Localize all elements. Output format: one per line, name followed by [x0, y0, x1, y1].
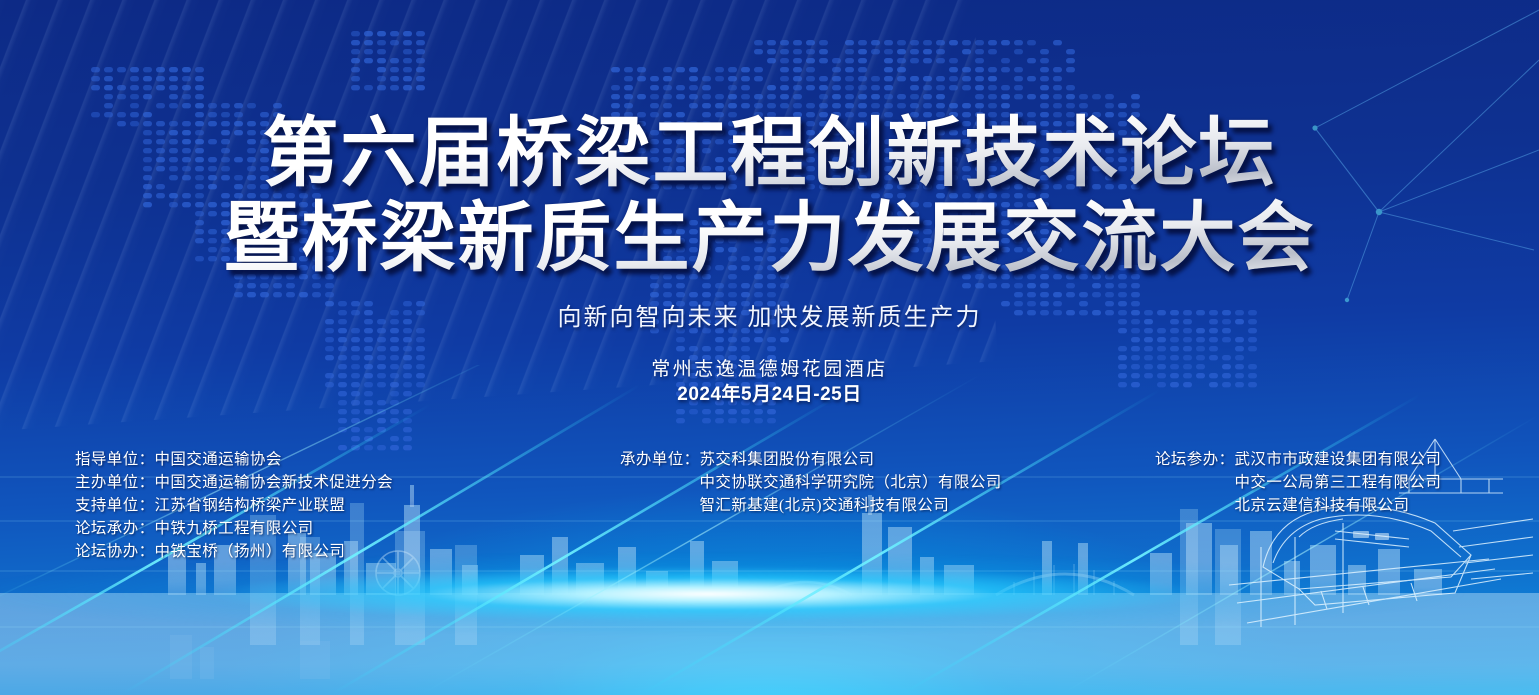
organization-value: 苏交科集团股份有限公司: [700, 448, 875, 471]
venue-text: 常州志逸温德姆花园酒店: [0, 354, 1539, 381]
organization-row: 支持单位：江苏省钢结构桥梁产业联盟: [75, 494, 393, 517]
organizations-right-column: 论坛参办：武汉市市政建设集团有限公司论坛参办：中交一公局第三工程有限公司论坛参办…: [1155, 448, 1441, 517]
organization-row: 论坛承办：中铁九桥工程有限公司: [75, 517, 393, 540]
organization-row: 承办单位：苏交科集团股份有限公司: [620, 448, 1002, 471]
organization-label: 支持单位：: [75, 494, 155, 517]
organization-value: 智汇新基建(北京)交通科技有限公司: [700, 494, 950, 517]
conference-banner: 第六届桥梁工程创新技术论坛 暨桥梁新质生产力发展交流大会 向新向智向未来 加快发…: [0, 0, 1539, 695]
organization-value: 中铁九桥工程有限公司: [155, 517, 314, 540]
organization-row: 论坛参办：武汉市市政建设集团有限公司: [1155, 448, 1441, 471]
page-title-line-1: 第六届桥梁工程创新技术论坛: [0, 112, 1539, 197]
organization-label: 论坛参办：: [1155, 448, 1235, 471]
date-text: 2024年5月24日-25日: [0, 379, 1539, 406]
organization-label: 承办单位：: [620, 448, 700, 471]
page-title-line-2: 暨桥梁新质生产力发展交流大会: [0, 197, 1539, 282]
organization-row: 指导单位：中国交通运输协会: [75, 448, 393, 471]
organization-row: 论坛参办：北京云建信科技有限公司: [1155, 494, 1441, 517]
subtitle: 向新向智向未来 加快发展新质生产力: [0, 297, 1539, 332]
organization-row: 论坛参办：中交一公局第三工程有限公司: [1155, 471, 1441, 494]
organization-label: 指导单位：: [75, 448, 155, 471]
organization-label: 论坛协办：: [75, 540, 155, 563]
organization-value: 北京云建信科技有限公司: [1235, 494, 1410, 517]
organization-row: 论坛协办：中铁宝桥（扬州）有限公司: [75, 540, 393, 563]
organization-row: 主办单位：中国交通运输协会新技术促进分会: [75, 471, 393, 494]
organization-value: 中国交通运输协会新技术促进分会: [155, 471, 394, 494]
organizations-left-column: 指导单位：中国交通运输协会主办单位：中国交通运输协会新技术促进分会支持单位：江苏…: [75, 448, 393, 563]
organization-value: 武汉市市政建设集团有限公司: [1235, 448, 1442, 471]
organization-value: 江苏省钢结构桥梁产业联盟: [155, 494, 346, 517]
organization-row: 承办单位：智汇新基建(北京)交通科技有限公司: [620, 494, 1002, 517]
organization-value: 中交协联交通科学研究院（北京）有限公司: [700, 471, 1002, 494]
organization-value: 中交一公局第三工程有限公司: [1235, 471, 1442, 494]
organization-value: 中铁宝桥（扬州）有限公司: [155, 540, 346, 563]
organizations-middle-column: 承办单位：苏交科集团股份有限公司承办单位：中交协联交通科学研究院（北京）有限公司…: [620, 448, 1002, 517]
organization-label: 主办单位：: [75, 471, 155, 494]
organization-row: 承办单位：中交协联交通科学研究院（北京）有限公司: [620, 471, 1002, 494]
organization-label: 论坛承办：: [75, 517, 155, 540]
organization-value: 中国交通运输协会: [155, 448, 282, 471]
title-block: 第六届桥梁工程创新技术论坛 暨桥梁新质生产力发展交流大会: [0, 112, 1539, 282]
